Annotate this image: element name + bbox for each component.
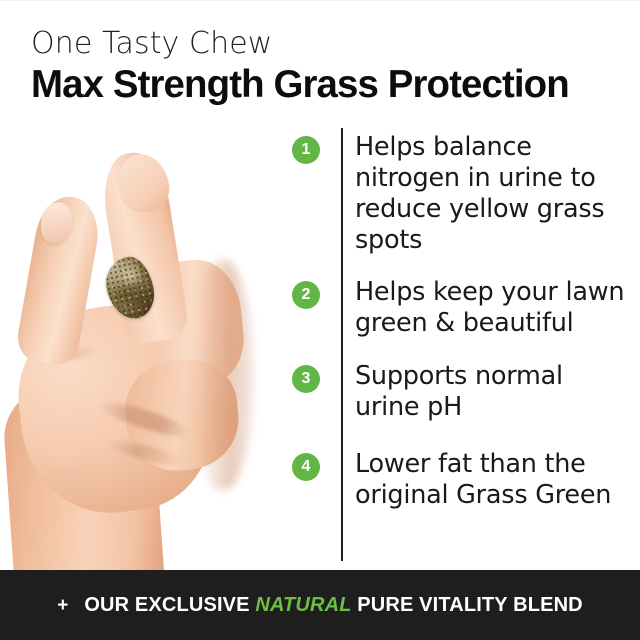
benefit-text: Helps balance nitrogen in urine to reduc… bbox=[355, 132, 627, 256]
banner-text-highlight: NATURAL bbox=[255, 594, 351, 616]
header-block: One Tasty Chew Max Strength Grass Protec… bbox=[31, 27, 623, 106]
list-item: 4 Lower fat than the original Grass Gree… bbox=[292, 449, 628, 511]
benefits-list: 1 Helps balance nitrogen in urine to red… bbox=[292, 132, 628, 511]
list-item: 3 Supports normal urine pH bbox=[292, 361, 628, 423]
plus-icon: + bbox=[57, 596, 68, 615]
benefit-number-badge: 2 bbox=[292, 281, 320, 309]
benefit-text: Supports normal urine pH bbox=[355, 361, 627, 423]
benefit-number-badge: 3 bbox=[292, 365, 320, 393]
banner-text-before: OUR EXCLUSIVE bbox=[84, 594, 249, 616]
benefit-text: Lower fat than the original Grass Green bbox=[355, 449, 627, 511]
page-title: Max Strength Grass Protection bbox=[31, 63, 614, 106]
top-edge-rule bbox=[0, 0, 640, 1]
benefit-text: Helps keep your lawn green & beautiful bbox=[355, 277, 627, 339]
hand-holding-chew-image bbox=[0, 110, 300, 570]
hand-shadow bbox=[196, 260, 254, 490]
banner-text-after: PURE VITALITY BLEND bbox=[357, 594, 582, 616]
bottom-banner: + OUR EXCLUSIVE NATURAL PURE VITALITY BL… bbox=[0, 570, 640, 640]
benefit-number-badge: 4 bbox=[292, 453, 320, 481]
promo-graphic: One Tasty Chew Max Strength Grass Protec… bbox=[0, 0, 640, 640]
list-item: 1 Helps balance nitrogen in urine to red… bbox=[292, 132, 628, 256]
benefit-number-badge: 1 bbox=[292, 136, 320, 164]
eyebrow-text: One Tasty Chew bbox=[31, 27, 623, 61]
list-item: 2 Helps keep your lawn green & beautiful bbox=[292, 277, 628, 339]
banner-text: OUR EXCLUSIVE NATURAL PURE VITALITY BLEN… bbox=[84, 595, 582, 615]
banner-content: + OUR EXCLUSIVE NATURAL PURE VITALITY BL… bbox=[57, 595, 583, 615]
